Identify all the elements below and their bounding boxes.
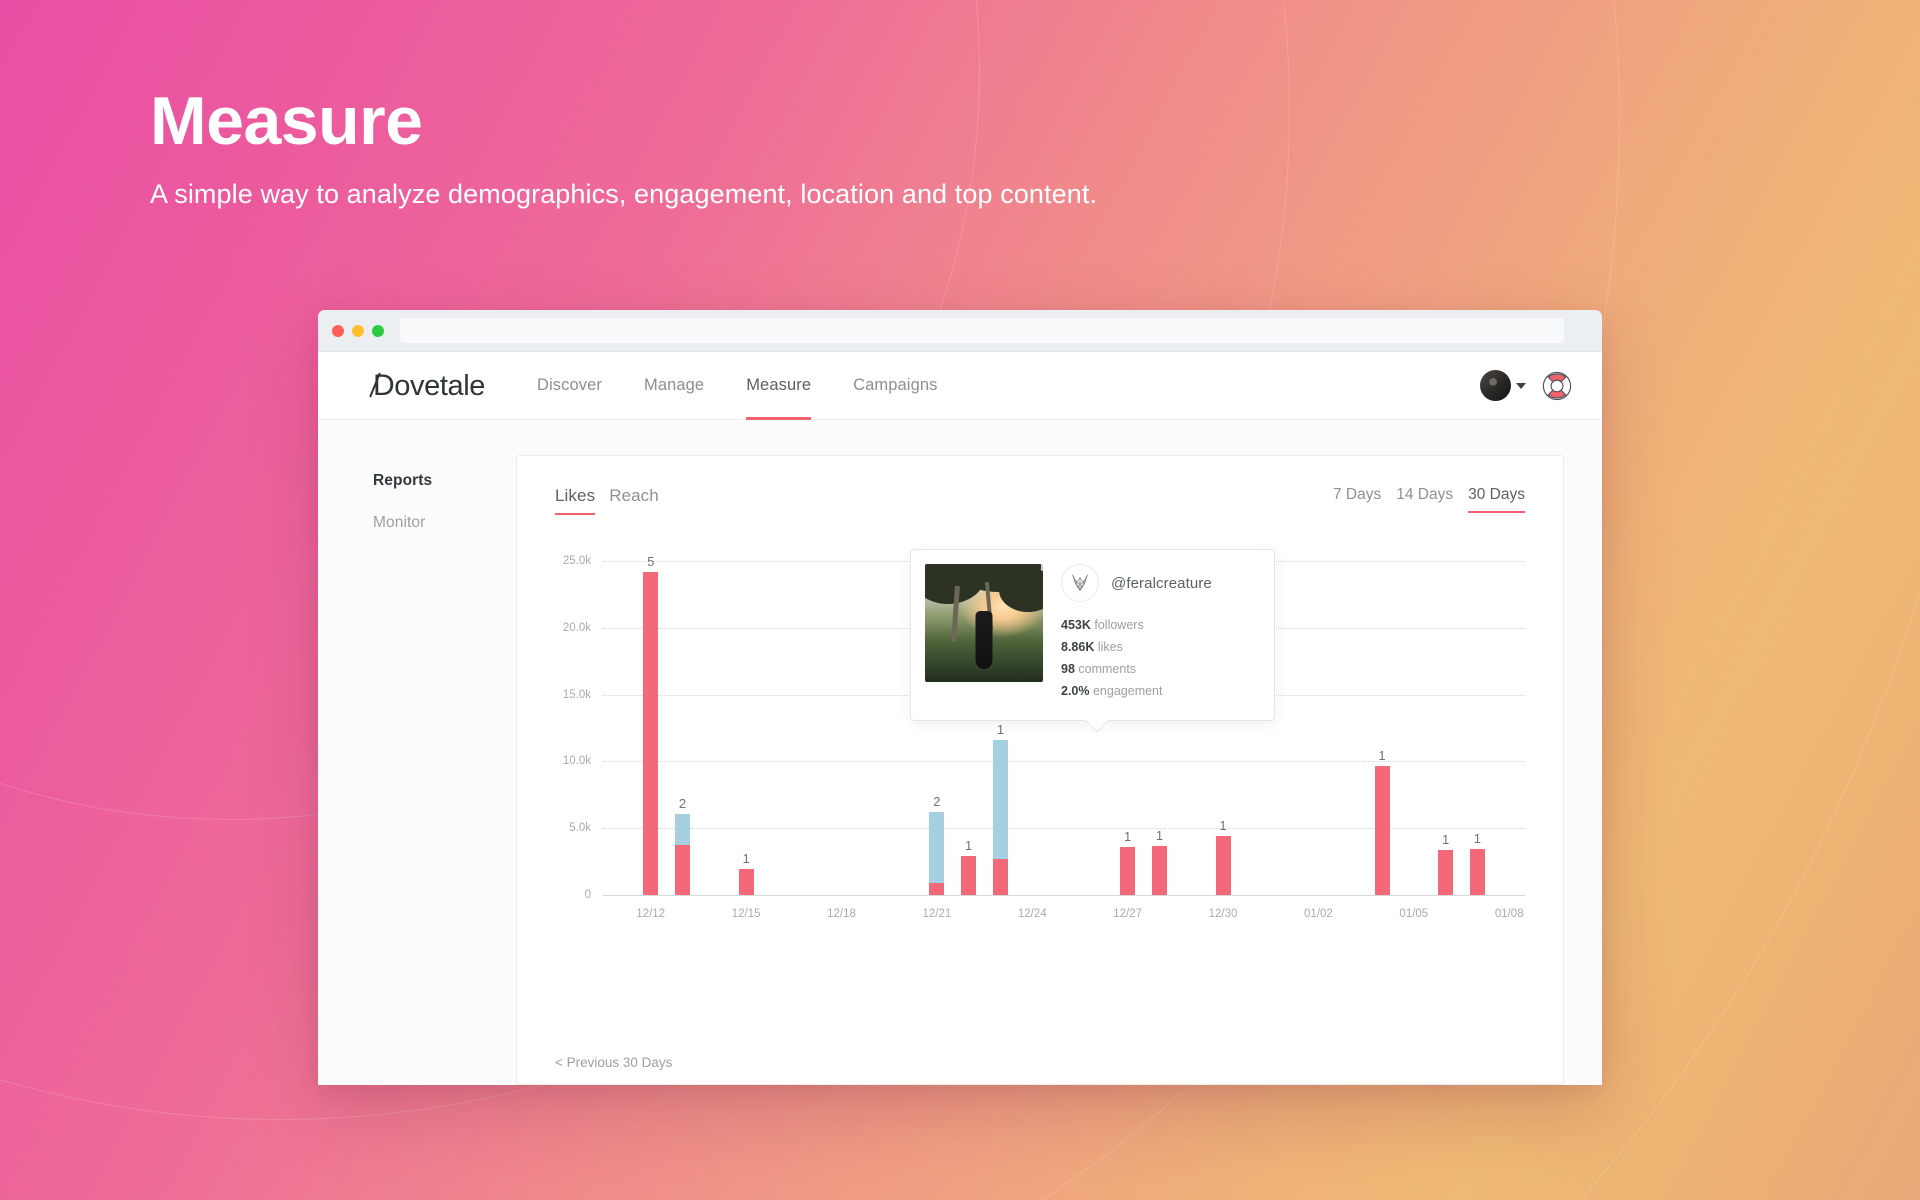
bar-segment-likes [675, 845, 690, 895]
x-axis-tick: 01/05 [1398, 908, 1430, 920]
logo-wordmark: ovetale [394, 370, 485, 403]
post-details: @feralcreature 453K followers 8.86K like… [1061, 564, 1260, 706]
bar[interactable]: 1 [739, 869, 754, 895]
nav-item-manage[interactable]: Manage [644, 352, 704, 420]
bar-segment-reach [929, 812, 944, 883]
stat-engagement-value: 2.0% [1061, 684, 1090, 698]
x-axis-tick: 01/02 [1303, 908, 1335, 920]
previous-period-link[interactable]: < Previous 30 Days [555, 1055, 672, 1070]
x-axis-tick: 12/12 [635, 908, 667, 920]
bar-slot[interactable] [1398, 541, 1430, 895]
bar-value-label: 1 [1442, 832, 1449, 847]
bar-slot[interactable] [1493, 541, 1525, 895]
bar[interactable]: 1 [1470, 849, 1485, 895]
bar-segment-likes [993, 859, 1008, 895]
x-axis-tick: 12/27 [1112, 908, 1144, 920]
bar-slot[interactable]: 1 [1462, 541, 1494, 895]
bar[interactable]: 1 [1216, 836, 1231, 895]
life-ring-icon[interactable] [1542, 371, 1572, 401]
bar-value-label: 1 [742, 851, 749, 866]
bar-value-label: 1 [965, 838, 972, 853]
bar-segment-likes [929, 883, 944, 895]
stat-likes-value: 8.86K [1061, 640, 1094, 654]
bar-segment-likes [643, 572, 658, 895]
bar-slot[interactable] [1271, 541, 1303, 895]
bar[interactable]: 1 [1375, 766, 1390, 895]
stat-likes: 8.86K likes [1061, 640, 1260, 654]
bar[interactable]: 1 [961, 856, 976, 895]
x-axis-tick: 12/18 [826, 908, 858, 920]
range-7-days[interactable]: 7 Days [1333, 486, 1381, 513]
author-handle: @feralcreature [1111, 575, 1212, 592]
bar-segment-likes [1120, 847, 1135, 895]
tab-reach[interactable]: Reach [609, 486, 659, 515]
nav-item-measure[interactable]: Measure [746, 352, 811, 420]
bar-slot[interactable] [698, 541, 730, 895]
report-card: Likes Reach 7 Days 14 Days 30 Days 05.0k… [516, 455, 1564, 1085]
bar-segment-likes [739, 869, 754, 895]
bar-value-label: 1 [1219, 818, 1226, 833]
bar[interactable]: 1 [1152, 846, 1167, 895]
bar-slot[interactable] [1334, 541, 1366, 895]
bar-value-label: 1 [1378, 748, 1385, 763]
bar-value-label: 1 [997, 722, 1004, 737]
app-body: Reports Monitor Likes Reach 7 Days 14 Da… [318, 420, 1602, 1085]
browser-window: D ovetale Discover Manage Measure Campai… [318, 310, 1602, 1085]
dovetale-logo[interactable]: D ovetale [373, 369, 485, 403]
stat-comments: 98 comments [1061, 662, 1260, 676]
tooltip-pointer [1083, 720, 1109, 733]
bar-segment-likes [1470, 849, 1485, 895]
bar-value-label: 1 [1124, 829, 1131, 844]
stat-engagement-label: engagement [1093, 684, 1163, 698]
stat-followers-value: 453K [1061, 618, 1091, 632]
stat-likes-label: likes [1098, 640, 1123, 654]
bar-slot[interactable] [1303, 541, 1335, 895]
tab-likes[interactable]: Likes [555, 486, 595, 515]
chevron-down-icon [1516, 383, 1526, 389]
bar[interactable]: 5 [643, 572, 658, 895]
post-thumbnail [925, 564, 1043, 682]
y-axis-tick: 15.0k [563, 689, 591, 701]
bar-slot[interactable]: 5 [635, 541, 667, 895]
x-axis-tick: 12/24 [1016, 908, 1048, 920]
y-axis-tick: 5.0k [569, 822, 591, 834]
avatar [1480, 370, 1511, 401]
y-axis-tick: 20.0k [563, 622, 591, 634]
logo-d-letter: D [373, 369, 394, 402]
bar-slot[interactable]: 1 [1366, 541, 1398, 895]
bar-value-label: 2 [933, 794, 940, 809]
nav-item-discover[interactable]: Discover [537, 352, 602, 420]
bar-segment-likes [1438, 850, 1453, 895]
bar-chart: 05.0k10.0k15.0k20.0k25.0k 521211111111 1… [545, 541, 1535, 931]
y-axis-tick: 25.0k [563, 555, 591, 567]
sidebar-item-monitor[interactable]: Monitor [373, 514, 498, 532]
bar-slot[interactable]: 1 [1430, 541, 1462, 895]
feral-creature-logo-icon [1061, 564, 1099, 602]
stat-comments-label: comments [1078, 662, 1136, 676]
secondary-sidebar: Reports Monitor [318, 420, 498, 1085]
x-axis-tick: 01/08 [1493, 908, 1525, 920]
bar-slot[interactable] [857, 541, 889, 895]
x-axis-tick: 12/15 [730, 908, 762, 920]
range-14-days[interactable]: 14 Days [1396, 486, 1453, 513]
bar-segment-likes [961, 856, 976, 895]
bar-slot[interactable] [794, 541, 826, 895]
stat-comments-value: 98 [1061, 662, 1075, 676]
y-axis-tick: 10.0k [563, 755, 591, 767]
x-axis-tick: 12/30 [1207, 908, 1239, 920]
y-axis-tick: 0 [585, 889, 591, 901]
bar-value-label: 2 [679, 796, 686, 811]
stat-followers: 453K followers [1061, 618, 1260, 632]
bar-slot[interactable] [762, 541, 794, 895]
range-30-days[interactable]: 30 Days [1468, 486, 1525, 513]
x-axis: 12/1212/1512/1812/2112/2412/2712/3001/02… [603, 899, 1525, 931]
bar-slot[interactable] [826, 541, 858, 895]
bar[interactable]: 2 [675, 814, 690, 895]
bar-slot[interactable] [603, 541, 635, 895]
nav-right-cluster [1480, 370, 1572, 401]
bar-segment-likes [1216, 836, 1231, 895]
minimize-window-button[interactable] [352, 325, 364, 337]
bar-segment-likes [1375, 766, 1390, 895]
chart-header: Likes Reach 7 Days 14 Days 30 Days [517, 456, 1563, 515]
bar-segment-reach [993, 740, 1008, 859]
range-tab-group: 7 Days 14 Days 30 Days [1333, 486, 1525, 513]
maximize-window-button[interactable] [372, 325, 384, 337]
metric-tab-group: Likes Reach [555, 486, 659, 515]
post-tooltip-card: @feralcreature 453K followers 8.86K like… [910, 549, 1275, 721]
bar-slot[interactable]: 1 [730, 541, 762, 895]
bar-segment-reach [675, 814, 690, 845]
account-menu-button[interactable] [1480, 370, 1526, 401]
gridline [603, 895, 1525, 896]
y-axis: 05.0k10.0k15.0k20.0k25.0k [545, 541, 597, 895]
logo-d-glyph: D [373, 369, 394, 403]
bar-segment-likes [1152, 846, 1167, 895]
hero-block: Measure A simple way to analyze demograp… [150, 86, 1097, 210]
primary-nav: Discover Manage Measure Campaigns [537, 352, 937, 419]
page-subtitle: A simple way to analyze demographics, en… [150, 179, 1097, 210]
address-bar-input[interactable] [400, 318, 1564, 343]
bar-value-label: 1 [1156, 828, 1163, 843]
x-axis-tick: 12/21 [921, 908, 953, 920]
close-window-button[interactable] [332, 325, 344, 337]
bar[interactable]: 1 [993, 740, 1008, 895]
window-controls [332, 325, 384, 337]
bar-value-label: 1 [1474, 831, 1481, 846]
post-subject [976, 611, 993, 669]
bar-slot[interactable]: 2 [667, 541, 699, 895]
stat-engagement: 2.0% engagement [1061, 684, 1260, 698]
bar-value-label: 5 [647, 554, 654, 569]
app-navbar: D ovetale Discover Manage Measure Campai… [318, 352, 1602, 420]
nav-item-campaigns[interactable]: Campaigns [853, 352, 937, 420]
bar[interactable]: 2 [929, 812, 944, 895]
bar[interactable]: 1 [1438, 850, 1453, 895]
page-title: Measure [150, 86, 1097, 157]
page-backdrop: Measure A simple way to analyze demograp… [0, 0, 1920, 1200]
sidebar-item-reports[interactable]: Reports [373, 472, 498, 490]
post-author-row[interactable]: @feralcreature [1061, 564, 1260, 602]
bar[interactable]: 1 [1120, 847, 1135, 895]
browser-titlebar [318, 310, 1602, 352]
stat-followers-label: followers [1094, 618, 1143, 632]
